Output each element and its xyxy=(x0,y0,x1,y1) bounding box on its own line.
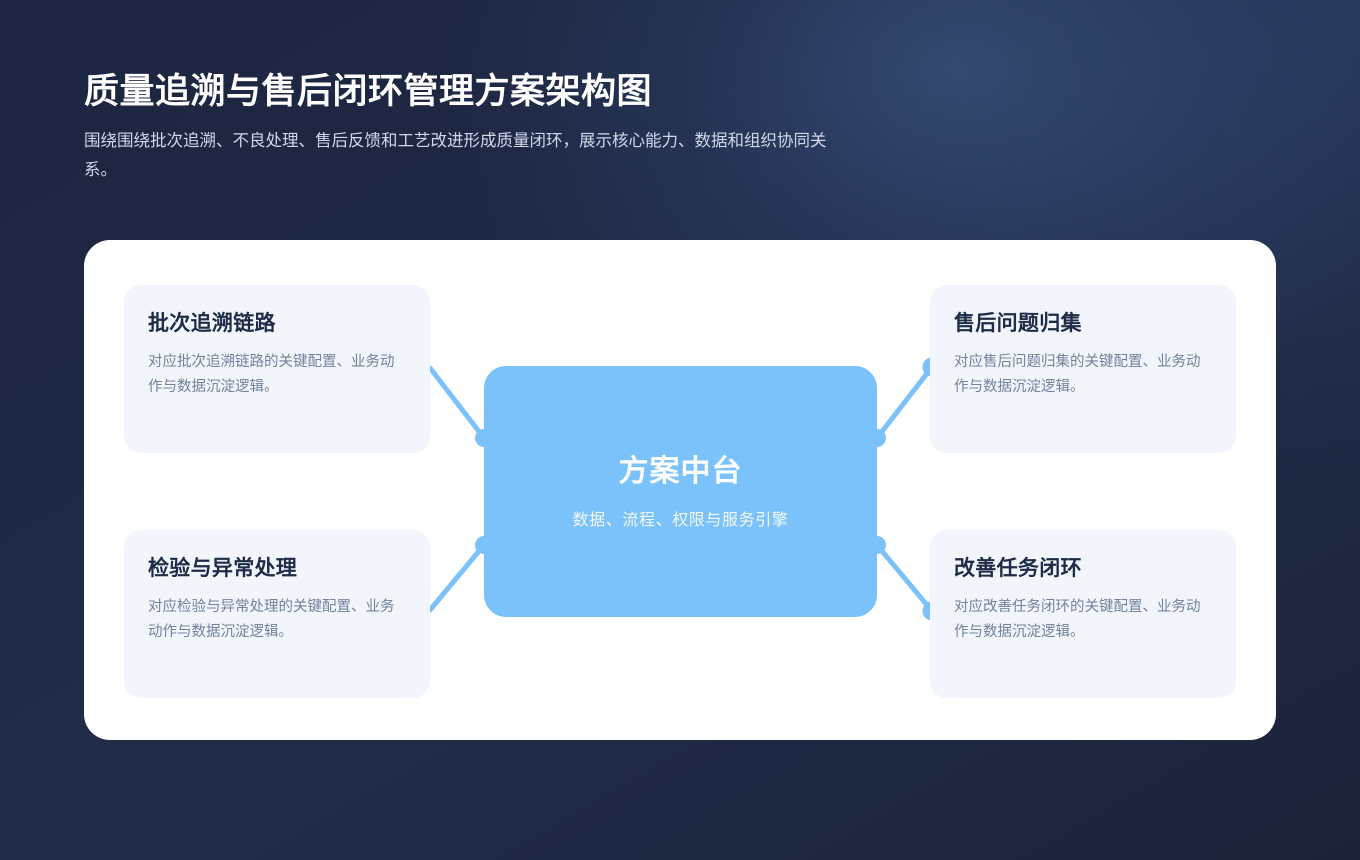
node-card-batch-traceability-chain[interactable]: 批次追溯链路 对应批次追溯链路的关键配置、业务动作与数据沉淀逻辑。 xyxy=(124,285,430,453)
node-card-description: 对应售后问题归集的关键配置、业务动作与数据沉淀逻辑。 xyxy=(954,350,1206,400)
node-card-inspection-and-exception-handling[interactable]: 检验与异常处理 对应检验与异常处理的关键配置、业务动作与数据沉淀逻辑。 xyxy=(124,530,430,698)
node-card-after-sales-issue-collection[interactable]: 售后问题归集 对应售后问题归集的关键配置、业务动作与数据沉淀逻辑。 xyxy=(930,285,1236,453)
center-hub-subtitle: 数据、流程、权限与服务引擎 xyxy=(573,506,789,530)
header-block: 质量追溯与售后闭环管理方案架构图 围绕围绕批次追溯、不良处理、售后反馈和工艺改进… xyxy=(84,70,864,185)
node-card-description: 对应检验与异常处理的关键配置、业务动作与数据沉淀逻辑。 xyxy=(148,595,396,645)
slide-canvas: 质量追溯与售后闭环管理方案架构图 围绕围绕批次追溯、不良处理、售后反馈和工艺改进… xyxy=(0,0,1360,860)
page-title: 质量追溯与售后闭环管理方案架构图 xyxy=(84,70,864,114)
node-card-title: 售后问题归集 xyxy=(954,311,1212,336)
node-card-title: 改善任务闭环 xyxy=(954,556,1212,581)
node-card-description: 对应改善任务闭环的关键配置、业务动作与数据沉淀逻辑。 xyxy=(954,595,1206,645)
connector-line-top-left xyxy=(430,368,484,438)
node-card-title: 检验与异常处理 xyxy=(148,556,406,581)
node-card-description: 对应批次追溯链路的关键配置、业务动作与数据沉淀逻辑。 xyxy=(148,350,400,400)
center-hub-node[interactable]: 方案中台 数据、流程、权限与服务引擎 xyxy=(484,366,877,617)
page-subtitle: 围绕围绕批次追溯、不良处理、售后反馈和工艺改进形成质量闭环，展示核心能力、数据和… xyxy=(84,127,832,185)
node-card-improvement-task-closed-loop[interactable]: 改善任务闭环 对应改善任务闭环的关键配置、业务动作与数据沉淀逻辑。 xyxy=(930,530,1236,698)
diagram-panel: 批次追溯链路 对应批次追溯链路的关键配置、业务动作与数据沉淀逻辑。 检验与异常处… xyxy=(84,240,1276,740)
connector-line-top-right xyxy=(877,367,932,438)
center-hub-title: 方案中台 xyxy=(619,454,743,490)
node-card-title: 批次追溯链路 xyxy=(148,311,406,336)
connector-line-bottom-right xyxy=(877,545,932,611)
connector-line-bottom-left xyxy=(430,545,484,610)
